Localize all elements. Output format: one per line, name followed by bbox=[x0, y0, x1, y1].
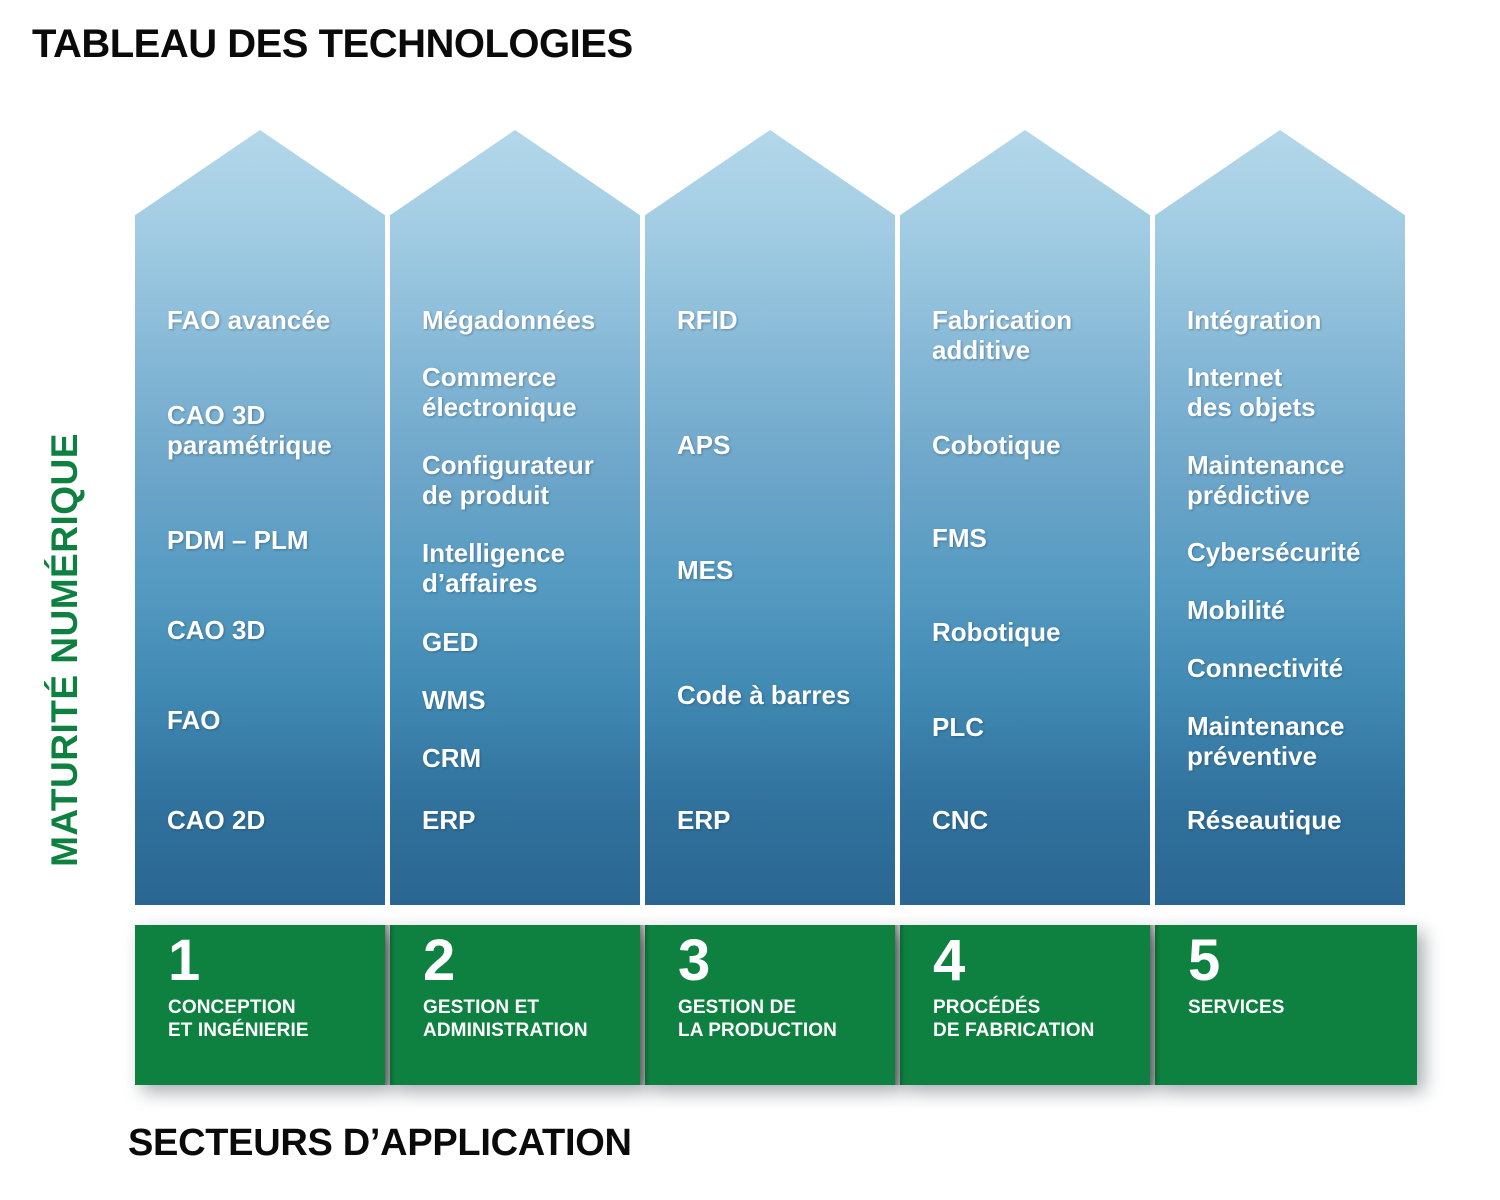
list-item[interactable]: Mobilité bbox=[1187, 595, 1395, 625]
technology-list: FabricationadditiveCobotiqueFMSRobotique… bbox=[932, 130, 1140, 905]
list-item[interactable]: Connectivité bbox=[1187, 653, 1395, 683]
technology-list: IntégrationInternetdes objetsMaintenance… bbox=[1187, 130, 1395, 905]
list-item[interactable]: FAO bbox=[167, 705, 375, 735]
sector-card-2[interactable]: 2GESTION ETADMINISTRATION bbox=[390, 925, 640, 1085]
sector-card-content: 1CONCEPTIONET INGÉNIERIE bbox=[168, 933, 379, 1042]
list-item[interactable]: CAO 2D bbox=[167, 805, 375, 835]
list-item[interactable]: GED bbox=[422, 627, 630, 657]
sector-label: SERVICES bbox=[1188, 996, 1411, 1019]
list-item[interactable]: Intelligenced’affaires bbox=[422, 538, 630, 599]
list-item[interactable]: Fabricationadditive bbox=[932, 305, 1140, 366]
sector-card-3[interactable]: 3GESTION DELA PRODUCTION bbox=[645, 925, 895, 1085]
list-item[interactable]: CNC bbox=[932, 805, 1140, 835]
technology-column-5[interactable]: IntégrationInternetdes objetsMaintenance… bbox=[1155, 130, 1405, 905]
list-item[interactable]: APS bbox=[677, 430, 885, 460]
list-item[interactable]: Maintenancepréventive bbox=[1187, 711, 1395, 772]
list-item[interactable]: MES bbox=[677, 555, 885, 585]
list-item[interactable]: WMS bbox=[422, 685, 630, 715]
technology-list: FAO avancéeCAO 3DparamétriquePDM – PLMCA… bbox=[167, 130, 375, 905]
sector-label: GESTION ETADMINISTRATION bbox=[423, 996, 634, 1042]
list-item[interactable]: CAO 3Dparamétrique bbox=[167, 400, 375, 461]
sector-card-content: 2GESTION ETADMINISTRATION bbox=[423, 933, 634, 1042]
technology-column-4[interactable]: FabricationadditiveCobotiqueFMSRobotique… bbox=[900, 130, 1150, 905]
technology-list: RFIDAPSMESCode à barresERP bbox=[677, 130, 885, 905]
list-item[interactable]: CRM bbox=[422, 743, 630, 773]
page-title: TABLEAU DES TECHNOLOGIES bbox=[32, 22, 633, 67]
sector-label: CONCEPTIONET INGÉNIERIE bbox=[168, 996, 379, 1042]
list-item[interactable]: Cybersécurité bbox=[1187, 537, 1395, 567]
sector-number: 4 bbox=[933, 933, 1144, 988]
list-item[interactable]: Mégadonnées bbox=[422, 305, 630, 335]
list-item[interactable]: FAO avancée bbox=[167, 305, 375, 335]
technology-column-2[interactable]: MégadonnéesCommerceélectroniqueConfigura… bbox=[390, 130, 640, 905]
list-item[interactable]: Code à barres bbox=[677, 680, 885, 710]
list-item[interactable]: FMS bbox=[932, 523, 1140, 553]
list-item[interactable]: Intégration bbox=[1187, 305, 1395, 335]
sector-number: 3 bbox=[678, 933, 889, 988]
technology-column-3[interactable]: RFIDAPSMESCode à barresERP bbox=[645, 130, 895, 905]
technology-list: MégadonnéesCommerceélectroniqueConfigura… bbox=[422, 130, 630, 905]
list-item[interactable]: CAO 3D bbox=[167, 615, 375, 645]
sector-number: 1 bbox=[168, 933, 379, 988]
sector-label: PROCÉDÉSDE FABRICATION bbox=[933, 996, 1144, 1042]
sector-number: 2 bbox=[423, 933, 634, 988]
technology-column-1[interactable]: FAO avancéeCAO 3DparamétriquePDM – PLMCA… bbox=[135, 130, 385, 905]
technology-columns: FAO avancéeCAO 3DparamétriquePDM – PLMCA… bbox=[135, 130, 1405, 905]
sector-card-content: 3GESTION DELA PRODUCTION bbox=[678, 933, 889, 1042]
sector-card-content: 5SERVICES bbox=[1188, 933, 1411, 1019]
list-item[interactable]: Cobotique bbox=[932, 430, 1140, 460]
sector-bar: 1CONCEPTIONET INGÉNIERIE2GESTION ETADMIN… bbox=[135, 925, 1397, 1085]
maturity-axis-label: MATURITÉ NUMÉRIQUE bbox=[44, 433, 86, 867]
list-item[interactable]: ERP bbox=[422, 805, 630, 835]
sectors-caption: SECTEURS D’APPLICATION bbox=[128, 1122, 632, 1165]
y-axis-label-container: MATURITÉ NUMÉRIQUE bbox=[0, 400, 130, 900]
list-item[interactable]: Robotique bbox=[932, 617, 1140, 647]
list-item[interactable]: PDM – PLM bbox=[167, 525, 375, 555]
list-item[interactable]: Maintenanceprédictive bbox=[1187, 450, 1395, 511]
list-item[interactable]: Réseautique bbox=[1187, 805, 1395, 835]
sector-card-5[interactable]: 5SERVICES bbox=[1155, 925, 1417, 1085]
list-item[interactable]: Commerceélectronique bbox=[422, 362, 630, 423]
list-item[interactable]: RFID bbox=[677, 305, 885, 335]
list-item[interactable]: Internetdes objets bbox=[1187, 362, 1395, 423]
list-item[interactable]: ERP bbox=[677, 805, 885, 835]
sector-number: 5 bbox=[1188, 933, 1411, 988]
sector-card-content: 4PROCÉDÉSDE FABRICATION bbox=[933, 933, 1144, 1042]
list-item[interactable]: PLC bbox=[932, 712, 1140, 742]
sector-card-1[interactable]: 1CONCEPTIONET INGÉNIERIE bbox=[135, 925, 385, 1085]
sector-label: GESTION DELA PRODUCTION bbox=[678, 996, 889, 1042]
list-item[interactable]: Configurateurde produit bbox=[422, 450, 630, 511]
sector-card-4[interactable]: 4PROCÉDÉSDE FABRICATION bbox=[900, 925, 1150, 1085]
